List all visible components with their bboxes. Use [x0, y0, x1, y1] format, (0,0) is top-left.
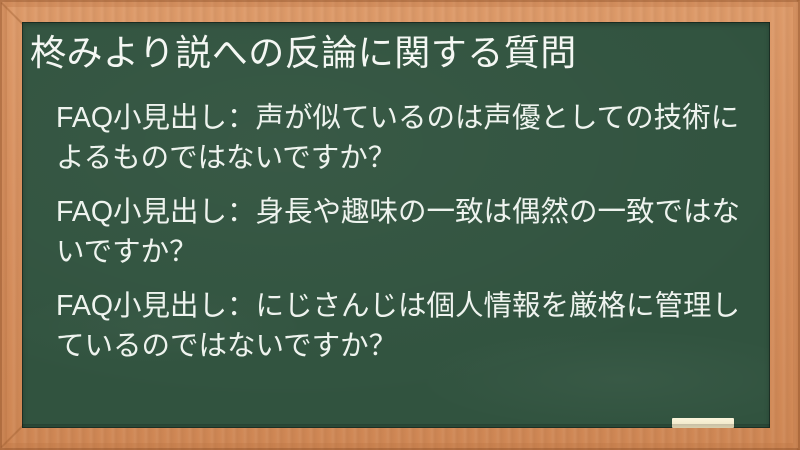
board-ledge — [22, 424, 770, 428]
list-item: FAQ小見出し：身長や趣味の一致は偶然の一致ではないですか？ — [56, 192, 756, 272]
chalkboard-slide: 柊みより説への反論に関する質問 FAQ小見出し：声が似ているのは声優としての技術… — [0, 0, 800, 450]
chalkboard-surface: 柊みより説への反論に関する質問 FAQ小見出し：声が似ているのは声優としての技術… — [22, 22, 770, 428]
list-item: FAQ小見出し：声が似ているのは声優としての技術によるものではないですか？ — [56, 98, 756, 178]
slide-title: 柊みより説への反論に関する質問 — [30, 30, 760, 76]
list-item: FAQ小見出し：にじさんじは個人情報を厳格に管理しているのではないですか？ — [56, 286, 756, 366]
question-list: FAQ小見出し：声が似ているのは声優としての技術によるものではないですか？ FA… — [56, 98, 756, 380]
frame-miter-top-right — [797, 0, 800, 2]
